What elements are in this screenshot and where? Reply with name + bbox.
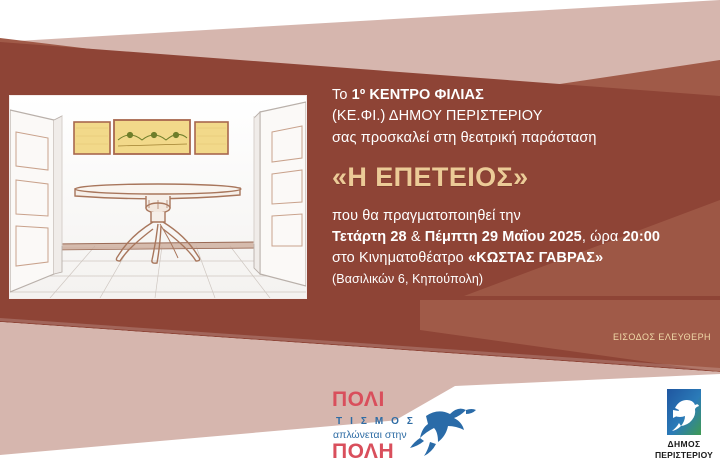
invitation-line-2: (ΚΕ.ΦΙ.) ΔΗΜΟΥ ΠΕΡΙΣΤΕΡΙΟΥ: [332, 107, 714, 126]
details-line-4: που θα πραγματοποιηθεί την: [332, 207, 714, 226]
date-wednesday: Τετάρτη 28: [332, 229, 407, 245]
invitation-line-1-prefix: Το: [332, 87, 352, 103]
invitation-line-3: σας προσκαλεί στη θεατρική παράσταση: [332, 129, 714, 148]
invitation-line-1: Το 1º ΚΕΝΤΡΟ ΦΙΛΙΑΣ: [332, 86, 714, 105]
time-label: , ώρα: [582, 229, 623, 245]
invitation-text-block: Το 1º ΚΕΝΤΡΟ ΦΙΛΙΑΣ (ΚΕ.ΦΙ.) ΔΗΜΟΥ ΠΕΡΙΣ…: [332, 86, 714, 287]
free-entrance-label: ΕΙΣΟΔΟΣ ΕΛΕΥΘΕΡΗ: [613, 332, 711, 342]
time-value: 20:00: [622, 229, 660, 245]
municipality-label-line-1: ΔΗΜΟΣ: [667, 439, 700, 449]
venue-prefix: στο Κινηματοθέατρο: [332, 250, 468, 266]
details-line-5-dates: Τετάρτη 28 & Πέμπτη 29 Μαΐου 2025, ώρα 2…: [332, 228, 714, 247]
details-line-6-venue: στο Κινηματοθέατρο «ΚΩΣΤΑΣ ΓΑΒΡΑΣ»: [332, 249, 714, 268]
logo-word-tismos: Τ Ι Σ Μ Ο Σ: [336, 416, 416, 427]
framed-pictures: [74, 120, 228, 154]
logo-word-poli-2: ΠΟΛΗ: [332, 440, 394, 463]
municipality-label-line-2: ΠΕΡΙΣΤΕΡΙΟΥ: [655, 450, 713, 460]
flying-bird-icon: [410, 409, 476, 456]
logo-politismos-apolnetai-stin-poli: ΠΟΛΙ Τ Ι Σ Μ Ο Σ απλώνεται στην ΠΟΛΗ: [330, 386, 480, 466]
left-door: [10, 110, 62, 292]
invitation-line-1-bold: 1º ΚΕΝΤΡΟ ΦΙΛΙΑΣ: [352, 87, 484, 103]
pencil-sketch-room-icon: [10, 96, 306, 298]
date-thursday: Πέμπτη 29 Μαΐου 2025: [425, 229, 582, 245]
right-door: [254, 102, 306, 286]
logo-word-poli: ΠΟΛΙ: [332, 388, 385, 411]
poster: Το 1º ΚΕΝΤΡΟ ΦΙΛΙΑΣ (ΚΕ.ΦΙ.) ΔΗΜΟΥ ΠΕΡΙΣ…: [0, 0, 720, 475]
play-title: «Η ΕΠΕΤΕΙΟΣ»: [332, 160, 714, 196]
venue-name: «ΚΩΣΤΑΣ ΓΑΒΡΑΣ»: [468, 250, 603, 266]
details-line-7-address: (Βασιλικών 6, Κηπούπολη): [332, 271, 714, 288]
logo-dimos-peristeriou: ΔΗΜΟΣ ΠΕΡΙΣΤΕΡΙΟΥ: [655, 388, 713, 470]
illustration-panel: [10, 96, 306, 298]
date-separator: &: [407, 229, 425, 245]
